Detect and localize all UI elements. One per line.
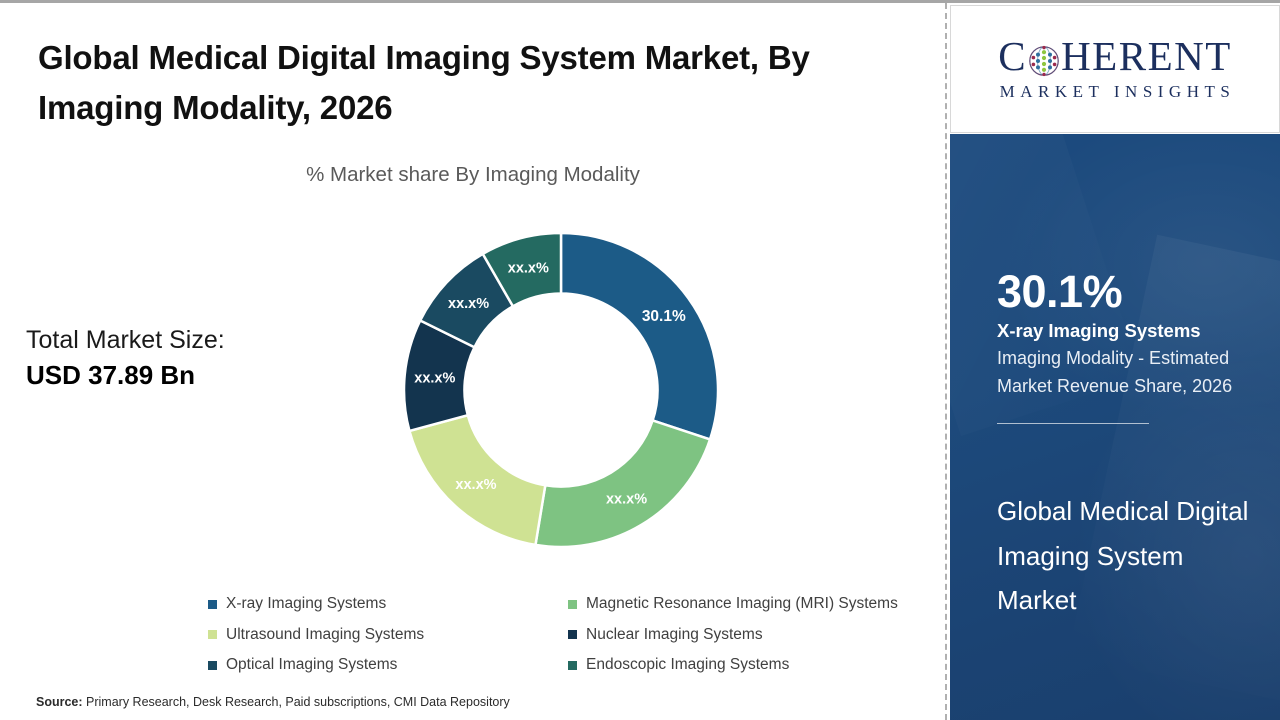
source-label: Source: xyxy=(36,695,83,709)
stat-description: Imaging Modality - Estimated Market Reve… xyxy=(997,345,1262,401)
donut-chart-svg: 30.1%xx.x%xx.x%xx.x%xx.x%xx.x% xyxy=(402,231,720,549)
legend-label: X-ray Imaging Systems xyxy=(226,595,386,613)
stat-segment-name: X-ray Imaging Systems xyxy=(997,319,1262,344)
donut-slice-group xyxy=(404,233,718,547)
panel-market-title: Global Medical Digital Imaging System Ma… xyxy=(997,489,1267,623)
total-market-size-label: Total Market Size: xyxy=(26,325,356,357)
donut-slice-label: xx.x% xyxy=(508,261,549,277)
logo-word-end: HERENT xyxy=(1061,36,1232,77)
right-panel: C xyxy=(950,3,1280,720)
legend-item[interactable]: Ultrasound Imaging Systems xyxy=(208,626,568,644)
donut-chart: 30.1%xx.x%xx.x%xx.x%xx.x%xx.x% xyxy=(402,231,720,549)
source-note: Source: Primary Research, Desk Research,… xyxy=(36,695,510,709)
stat-percent: 30.1% xyxy=(997,269,1262,316)
legend-item[interactable]: Magnetic Resonance Imaging (MRI) Systems xyxy=(568,595,938,613)
highlight-panel: 30.1% X-ray Imaging Systems Imaging Moda… xyxy=(950,134,1280,720)
legend-swatch xyxy=(568,661,577,670)
legend-swatch xyxy=(208,600,217,609)
legend-item[interactable]: Nuclear Imaging Systems xyxy=(568,626,938,644)
legend-label: Optical Imaging Systems xyxy=(226,656,397,674)
legend-item[interactable]: Optical Imaging Systems xyxy=(208,656,568,674)
donut-slice-label: xx.x% xyxy=(414,371,455,387)
brand-logo: C xyxy=(950,5,1280,133)
chart-subtitle: % Market share By Imaging Modality xyxy=(0,163,946,187)
infographic-canvas: Global Medical Digital Imaging System Ma… xyxy=(0,0,1280,720)
legend-label: Endoscopic Imaging Systems xyxy=(586,656,789,674)
stat-divider-rule xyxy=(997,423,1149,424)
logo-word-start: C xyxy=(998,36,1027,77)
logo-tagline: MARKET INSIGHTS xyxy=(995,82,1236,102)
legend-item[interactable]: X-ray Imaging Systems xyxy=(208,595,568,613)
logo-wordmark: C xyxy=(998,36,1232,77)
donut-slice[interactable] xyxy=(535,420,710,547)
main-content-area: Global Medical Digital Imaging System Ma… xyxy=(0,3,946,720)
chart-legend: X-ray Imaging SystemsMagnetic Resonance … xyxy=(208,589,938,681)
legend-swatch xyxy=(568,630,577,639)
panel-divider xyxy=(945,3,947,720)
legend-swatch xyxy=(208,661,217,670)
page-title: Global Medical Digital Imaging System Ma… xyxy=(38,33,918,133)
legend-swatch xyxy=(568,600,577,609)
legend-label: Nuclear Imaging Systems xyxy=(586,626,763,644)
donut-slice-label: xx.x% xyxy=(455,477,496,493)
legend-label: Magnetic Resonance Imaging (MRI) Systems xyxy=(586,595,898,613)
total-market-size-block: Total Market Size: USD 37.89 Bn xyxy=(26,325,356,392)
donut-slice-label: xx.x% xyxy=(448,296,489,312)
legend-label: Ultrasound Imaging Systems xyxy=(226,626,424,644)
total-market-size-value: USD 37.89 Bn xyxy=(26,359,356,393)
donut-slice-label: 30.1% xyxy=(642,308,686,325)
legend-item[interactable]: Endoscopic Imaging Systems xyxy=(568,656,938,674)
globe-dots-icon xyxy=(1028,43,1060,75)
donut-slice-label: xx.x% xyxy=(606,492,647,508)
source-text: Primary Research, Desk Research, Paid su… xyxy=(83,695,510,709)
donut-slice[interactable] xyxy=(561,233,718,439)
key-stat-block: 30.1% X-ray Imaging Systems Imaging Moda… xyxy=(997,269,1262,424)
legend-swatch xyxy=(208,630,217,639)
